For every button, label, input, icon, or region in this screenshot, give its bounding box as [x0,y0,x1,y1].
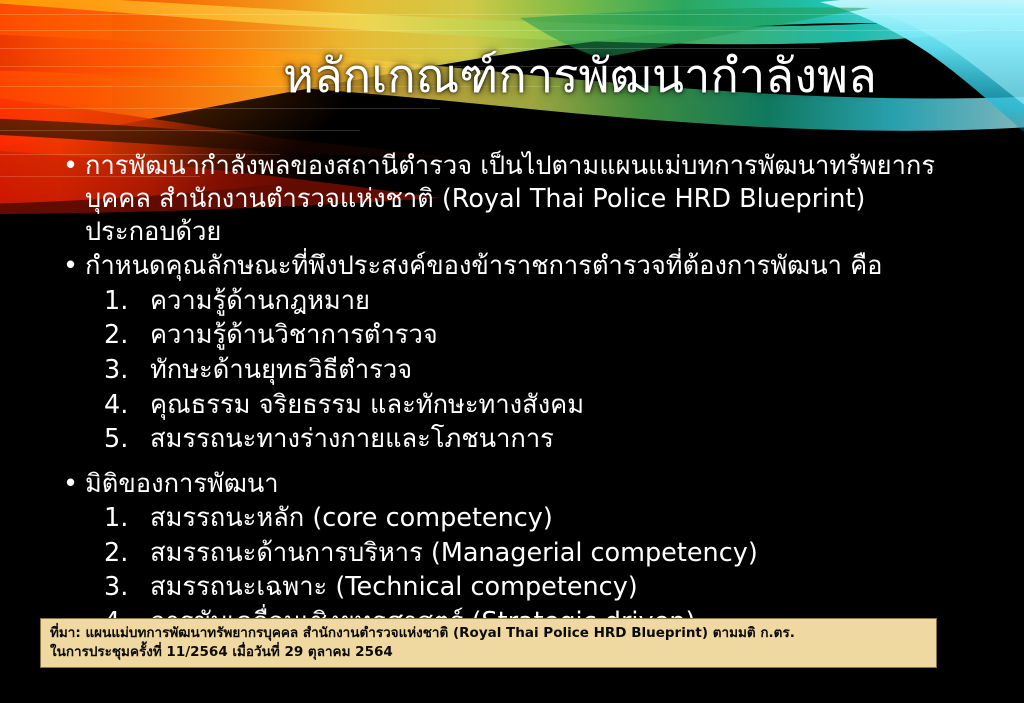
numbered-list-characteristics: 1. ความรู้ด้านกฎหมาย 2. ความรู้ด้านวิชาก… [0,285,1024,457]
list-item-text: ความรู้ด้านกฎหมาย [150,285,1024,319]
source-line-2: ในการประชุมครั้งที่ 11/2564 เมื่อวันที่ … [50,643,927,662]
list-item-number: 5. [104,423,138,457]
list-item: 2. สมรรถนะด้านการบริหาร (Managerial comp… [0,537,1024,571]
bullet-item: • กำหนดคุณลักษณะที่พึงประสงค์ของข้าราชกา… [0,250,1024,283]
list-item: 2. ความรู้ด้านวิชาการตำรวจ [0,319,1024,353]
source-line-1: ที่มา: แผนแม่บทการพัฒนาทรัพยากรบุคคล สำน… [50,624,927,643]
list-item-number: 2. [104,537,138,571]
bullet-item: • มิติของการพัฒนา [0,468,1024,501]
bullet-text: การพัฒนากำลังพลของสถานีตำรวจ เป็นไปตามแผ… [85,150,954,249]
slide-title: หลักเกณฑ์การพัฒนากำลังพล [283,52,983,101]
list-item: 5. สมรรถนะทางร่างกายและโภชนาการ [0,423,1024,457]
bullet-marker-icon: • [63,150,78,183]
list-item: 4. คุณธรรม จริยธรรม และทักษะทางสังคม [0,389,1024,423]
list-item-number: 2. [104,319,138,353]
list-item-text: ทักษะด้านยุทธวิธีตำรวจ [150,354,1024,388]
list-item-text: คุณธรรม จริยธรรม และทักษะทางสังคม [150,389,1024,423]
list-item-number: 3. [104,571,138,605]
bullet-marker-icon: • [63,250,78,283]
list-item-number: 4. [104,389,138,423]
bullet-item: • การพัฒนากำลังพลของสถานีตำรวจ เป็นไปตาม… [0,150,1024,249]
list-item: 3. ทักษะด้านยุทธวิธีตำรวจ [0,354,1024,388]
presentation-slide: หลักเกณฑ์การพัฒนากำลังพล • การพัฒนากำลัง… [0,0,1024,703]
list-item-number: 3. [104,354,138,388]
list-item-text: สมรรถนะเฉพาะ (Technical competency) [150,571,1024,605]
list-item: 1. สมรรถนะหลัก (core competency) [0,502,1024,536]
source-citation-box: ที่มา: แผนแม่บทการพัฒนาทรัพยากรบุคคล สำน… [40,618,937,668]
list-item-text: สมรรถนะหลัก (core competency) [150,502,1024,536]
list-item-number: 1. [104,285,138,319]
slide-body: • การพัฒนากำลังพลของสถานีตำรวจ เป็นไปตาม… [0,150,1024,641]
list-item: 1. ความรู้ด้านกฎหมาย [0,285,1024,319]
list-item-text: ความรู้ด้านวิชาการตำรวจ [150,319,1024,353]
bullet-text: มิติของการพัฒนา [85,468,954,501]
bullet-text: กำหนดคุณลักษณะที่พึงประสงค์ของข้าราชการต… [85,250,954,283]
list-item: 3. สมรรถนะเฉพาะ (Technical competency) [0,571,1024,605]
list-item-number: 1. [104,502,138,536]
list-item-text: สมรรถนะด้านการบริหาร (Managerial compete… [150,537,1024,571]
section-spacer [0,458,1024,468]
bullet-marker-icon: • [63,468,78,501]
list-item-text: สมรรถนะทางร่างกายและโภชนาการ [150,423,1024,457]
